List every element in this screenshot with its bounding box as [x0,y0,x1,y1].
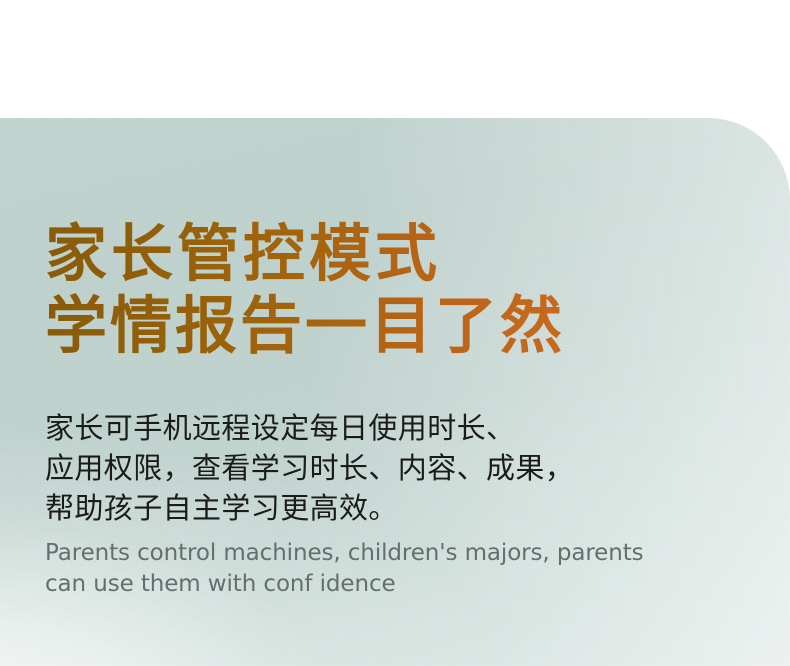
body-copy-block: 家长可手机远程设定每日使用时长、 应用权限，查看学习时长、内容、成果， 帮助孩子… [45,408,574,528]
subtitle-block: Parents control machines, children's maj… [45,538,644,600]
feature-banner: 家长管控模式 学情报告一目了然 家长可手机远程设定每日使用时长、 应用权限，查看… [0,0,790,666]
body-line-1: 家长可手机远程设定每日使用时长、 [45,408,574,448]
body-line-3: 帮助孩子自主学习更高效。 [45,488,574,528]
gradient-panel: 家长管控模式 学情报告一目了然 家长可手机远程设定每日使用时长、 应用权限，查看… [0,118,790,666]
body-line-2: 应用权限，查看学习时长、内容、成果， [45,448,574,488]
headline-line-1: 家长管控模式 [45,218,565,290]
subtitle-line-2: can use them with conf idence [45,569,644,600]
subtitle-line-1: Parents control machines, children's maj… [45,538,644,569]
headline-block: 家长管控模式 学情报告一目了然 [45,218,565,362]
top-white-strip [0,0,790,118]
headline-line-2: 学情报告一目了然 [45,290,565,362]
